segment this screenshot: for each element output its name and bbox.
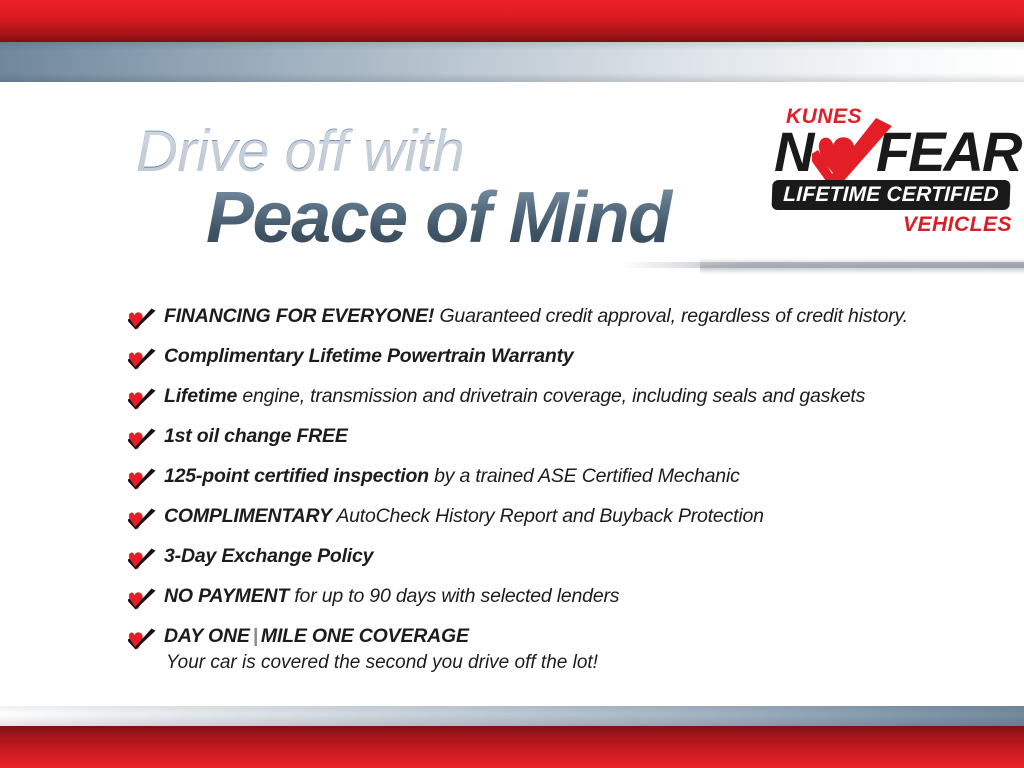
list-item-regular: AutoCheck History Report and Buyback Pro… bbox=[332, 505, 764, 527]
logo-vehicles-text: VEHICLES bbox=[903, 214, 1012, 235]
top-gray-band-shading bbox=[0, 42, 1024, 82]
promo-poster: Drive off with Peace of Mind KUNES N FEA… bbox=[0, 0, 1024, 768]
list-item-text: FINANCING FOR EVERYONE! Guaranteed credi… bbox=[164, 305, 908, 327]
headline-line-1: Drive off with bbox=[136, 124, 756, 180]
list-item-regular: by a trained ASE Certified Mechanic bbox=[429, 465, 740, 487]
logo-word-fear: FEAR bbox=[876, 124, 1020, 180]
heart-check-bullet-icon bbox=[128, 428, 156, 450]
list-item-bold: Complimentary Lifetime Powertrain Warran… bbox=[164, 345, 574, 367]
list-item-text: COMPLIMENTARY AutoCheck History Report a… bbox=[164, 505, 764, 527]
list-item-bold: Lifetime bbox=[164, 385, 237, 407]
logo-lifetime-certified-text: LIFETIME CERTIFIED bbox=[771, 180, 1010, 210]
heart-check-bullet-icon bbox=[128, 308, 156, 330]
list-item-regular: Guaranteed credit approval, regardless o… bbox=[434, 305, 908, 327]
heart-check-bullet-icon bbox=[128, 628, 156, 650]
logo-no-fear-wordmark: N FEAR bbox=[772, 126, 1016, 180]
list-item-text: Lifetime engine, transmission and drivet… bbox=[164, 385, 865, 407]
bottom-banner bbox=[0, 692, 1024, 768]
kunes-no-fear-logo: KUNES N FEAR LIFETIME CERTIFIED VEHICLES bbox=[772, 106, 1016, 248]
list-item-bold: 125-point certified inspection bbox=[164, 465, 429, 487]
heart-check-bullet-icon bbox=[128, 508, 156, 530]
list-item-bold: NO PAYMENT bbox=[164, 585, 289, 607]
list-item-bold: 1st oil change FREE bbox=[164, 425, 348, 447]
list-item-text: 1st oil change FREE bbox=[164, 425, 348, 447]
list-item-text: NO PAYMENT for up to 90 days with select… bbox=[164, 585, 619, 607]
headline: Drive off with Peace of Mind bbox=[136, 124, 756, 254]
headline-divider-shadow bbox=[700, 258, 1024, 274]
list-item: DAY ONE|MILE ONE COVERAGE Your car is co… bbox=[128, 626, 928, 674]
list-item-text: Complimentary Lifetime Powertrain Warran… bbox=[164, 345, 574, 367]
list-item-bold: COMPLIMENTARY bbox=[164, 505, 332, 527]
list-item: 1st oil change FREE bbox=[128, 426, 928, 452]
heart-check-bullet-icon bbox=[128, 348, 156, 370]
list-item-regular: for up to 90 days with selected lenders bbox=[289, 585, 619, 607]
heart-check-bullet-icon bbox=[128, 588, 156, 610]
heart-check-bullet-icon bbox=[128, 548, 156, 570]
list-item: Complimentary Lifetime Powertrain Warran… bbox=[128, 346, 928, 372]
logo-lifetime-certified-bar: LIFETIME CERTIFIED bbox=[771, 180, 1010, 210]
top-banner bbox=[0, 0, 1024, 84]
list-item-text: DAY ONE|MILE ONE COVERAGE bbox=[164, 625, 469, 647]
list-item: Lifetime engine, transmission and drivet… bbox=[128, 386, 928, 412]
list-item-bold: 3-Day Exchange Policy bbox=[164, 545, 373, 567]
bottom-gray-band-shading bbox=[0, 706, 1024, 726]
bottom-red-band bbox=[0, 726, 1024, 768]
list-item-bold-mile-one: MILE ONE COVERAGE bbox=[261, 625, 469, 647]
heart-check-bullet-icon bbox=[128, 388, 156, 410]
list-item-text: 125-point certified inspection by a trai… bbox=[164, 465, 740, 487]
list-item: FINANCING FOR EVERYONE! Guaranteed credi… bbox=[128, 306, 928, 332]
list-item-regular: engine, transmission and drivetrain cove… bbox=[237, 385, 865, 407]
logo-letter-n: N bbox=[774, 124, 813, 180]
headline-line-2: Peace of Mind bbox=[206, 182, 756, 254]
list-item-subtext: Your car is covered the second you drive… bbox=[166, 652, 928, 674]
heart-check-icon bbox=[812, 116, 896, 188]
list-item: 3-Day Exchange Policy bbox=[128, 546, 928, 572]
list-item-text: 3-Day Exchange Policy bbox=[164, 545, 373, 567]
top-red-band bbox=[0, 0, 1024, 42]
benefits-list: FINANCING FOR EVERYONE! Guaranteed credi… bbox=[128, 306, 928, 688]
list-item-bold-day-one: DAY ONE bbox=[164, 625, 250, 647]
list-item: NO PAYMENT for up to 90 days with select… bbox=[128, 586, 928, 612]
list-item: 125-point certified inspection by a trai… bbox=[128, 466, 928, 492]
heart-check-bullet-icon bbox=[128, 468, 156, 490]
list-item-separator: | bbox=[250, 625, 261, 647]
list-item: COMPLIMENTARY AutoCheck History Report a… bbox=[128, 506, 928, 532]
list-item-bold: FINANCING FOR EVERYONE! bbox=[164, 305, 434, 327]
